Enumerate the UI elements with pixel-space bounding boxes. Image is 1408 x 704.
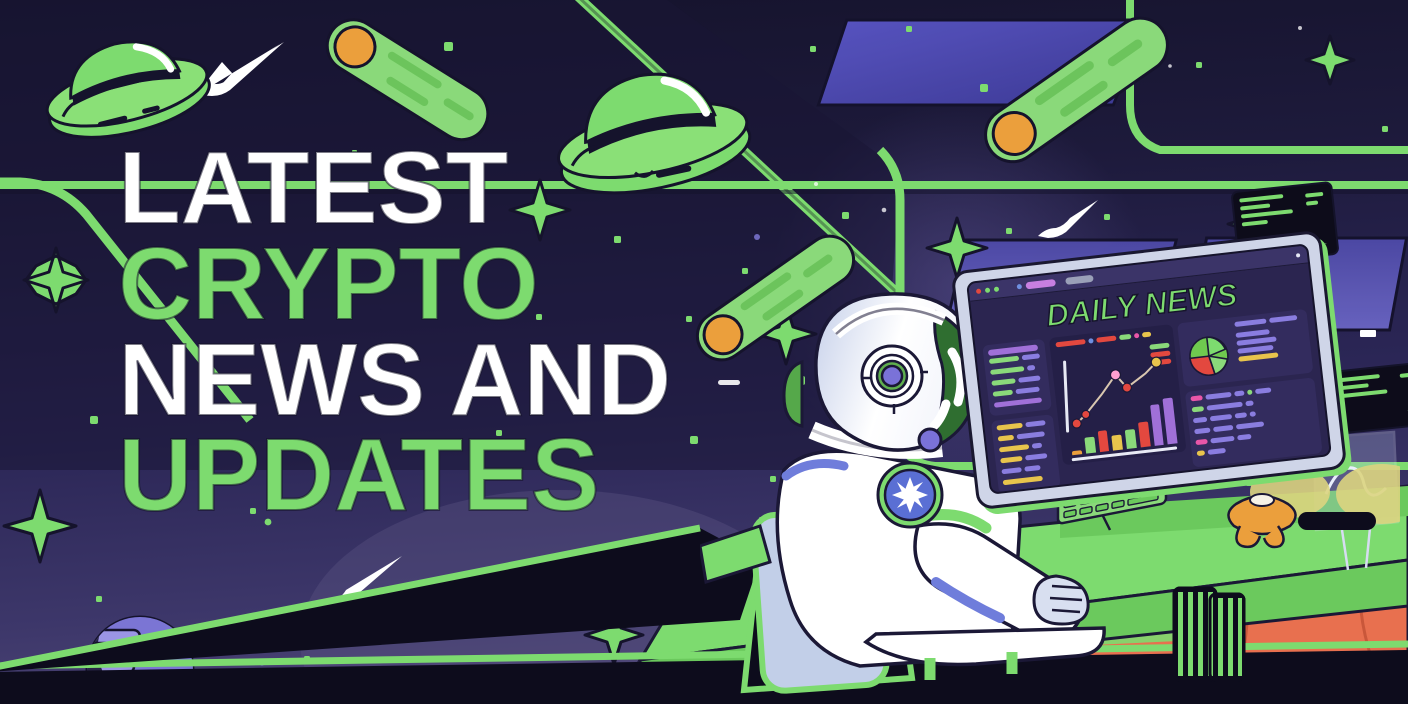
left-card-bottom[interactable] <box>991 414 1061 494</box>
headline-line-3: NEWS AND <box>118 332 738 428</box>
browser-pill-gray[interactable] <box>1065 275 1094 285</box>
dashboard-left-column <box>982 339 1058 473</box>
headline-line-2: CRYPTO <box>118 236 738 332</box>
browser-dot-red[interactable] <box>976 289 982 295</box>
banner-canvas: DAILY NEWS <box>0 0 1408 704</box>
browser-dot-white[interactable] <box>1296 253 1300 257</box>
left-card-top[interactable] <box>982 339 1052 417</box>
table-card[interactable] <box>1185 377 1323 467</box>
chart-bar-7 <box>1150 404 1164 446</box>
headline: LATEST CRYPTO NEWS AND UPDATES <box>118 140 738 523</box>
browser-dot-green-2[interactable] <box>994 286 1000 292</box>
pie-chart <box>1183 331 1234 382</box>
chart-bar-6 <box>1138 422 1150 448</box>
dashboard-right-column <box>1177 309 1321 451</box>
dashboard-chart[interactable] <box>1049 324 1187 465</box>
headline-line-4: UPDATES <box>118 427 738 523</box>
chart-bar-1 <box>1072 450 1082 455</box>
chart-bar-5 <box>1125 429 1137 449</box>
monitor-screen[interactable]: DAILY NEWS <box>966 243 1332 495</box>
headline-line-1: LATEST <box>118 140 738 236</box>
browser-pill-purple[interactable] <box>1025 279 1056 289</box>
chart-bar-4 <box>1112 435 1123 451</box>
lamp <box>1228 494 1295 547</box>
chart-bars <box>1065 382 1177 456</box>
pie-card[interactable] <box>1177 309 1313 387</box>
monitor[interactable]: DAILY NEWS <box>963 250 1335 490</box>
browser-dot-green-1[interactable] <box>985 288 991 294</box>
canisters <box>1170 582 1370 704</box>
browser-dot-blue[interactable] <box>1017 284 1023 290</box>
chart-bar-3 <box>1097 430 1109 452</box>
chart-bar-2 <box>1084 437 1096 454</box>
